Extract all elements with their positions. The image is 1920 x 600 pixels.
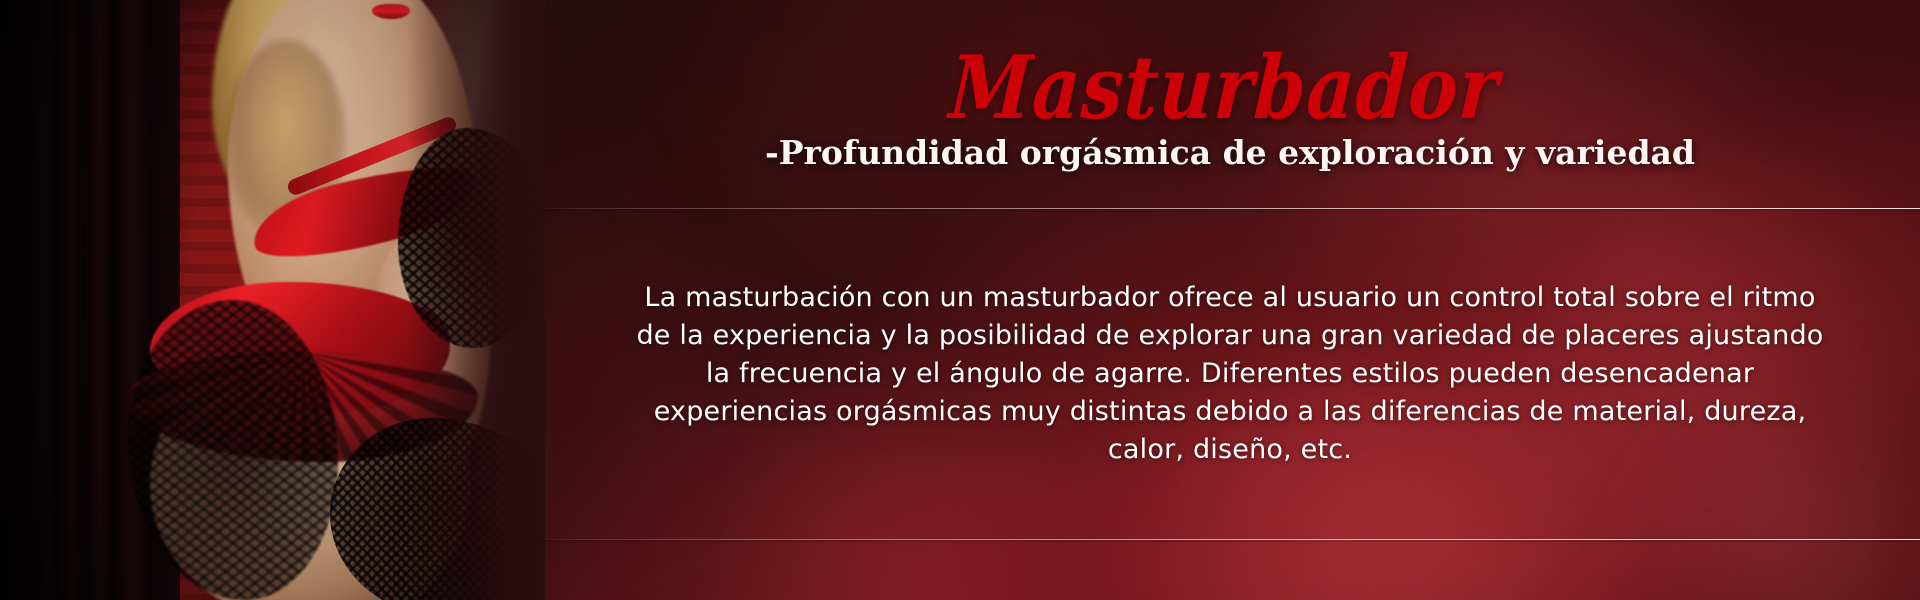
banner-title: Masturbador xyxy=(948,0,1505,132)
photo-lace-stocking xyxy=(330,418,545,600)
description-paragraph: La masturbación con un masturbador ofrec… xyxy=(580,279,1880,469)
divider-bottom xyxy=(540,539,1920,540)
banner-body: La masturbación con un masturbador ofrec… xyxy=(540,209,1920,539)
photo-lace-glove xyxy=(398,128,545,348)
banner-content: Masturbador -Profundidad orgásmica de ex… xyxy=(540,0,1920,600)
description-line: experiencias orgásmicas muy distintas de… xyxy=(580,393,1880,431)
description-line: calor, diseño, etc. xyxy=(580,431,1880,469)
description-line: de la experiencia y la posibilidad de ex… xyxy=(580,317,1880,355)
description-line: La masturbación con un masturbador ofrec… xyxy=(580,279,1880,317)
description-line: la frecuencia y el ángulo de agarre. Dif… xyxy=(580,355,1880,393)
model-photo xyxy=(0,0,545,600)
promo-banner: Masturbador -Profundidad orgásmica de ex… xyxy=(0,0,1920,600)
